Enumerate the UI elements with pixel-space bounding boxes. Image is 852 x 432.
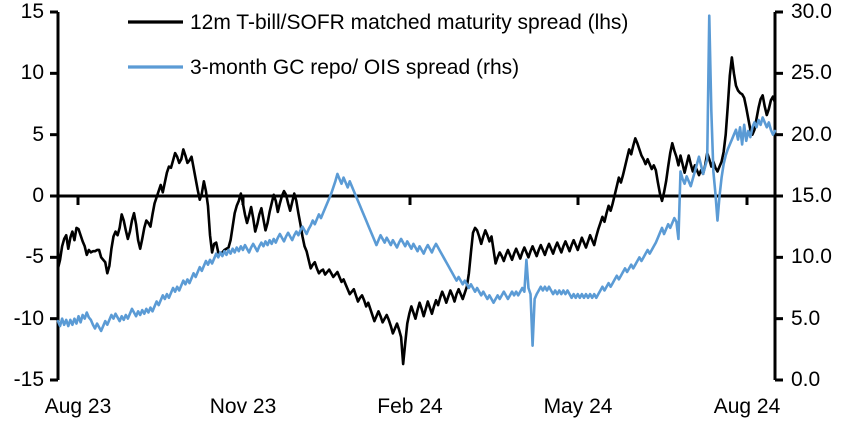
chart-container: 151050-5-10-15 30.025.020.015.010.05.00.… [0, 0, 852, 432]
x-axis-tick-label: Aug 23 [18, 396, 138, 417]
legend-label-gc-repo-ois-spread: 3-month GC repo/ OIS spread (rhs) [190, 57, 519, 78]
y-left-tick-label: -5 [0, 246, 44, 267]
y-left-tick-label: 15 [0, 1, 44, 22]
legend-swatch-layer [128, 22, 183, 67]
y-left-tick-label: -10 [0, 308, 44, 329]
y-right-tick-label: 10.0 [791, 246, 832, 267]
x-axis-tick-label: Nov 23 [183, 396, 303, 417]
y-left-tick-label: 0 [0, 185, 44, 206]
y-left-tick-label: 10 [0, 62, 44, 83]
y-right-tick-label: 5.0 [791, 308, 820, 329]
x-axis-tick-label: May 24 [518, 396, 638, 417]
y-left-tick-label: -15 [0, 369, 44, 390]
y-right-tick-label: 25.0 [791, 62, 832, 83]
y-right-tick-label: 20.0 [791, 124, 832, 145]
x-axis-tick-label: Aug 24 [687, 396, 807, 417]
x-axis-tick-label: Feb 24 [350, 396, 470, 417]
legend-label-tbill-sofr-spread: 12m T-bill/SOFR matched maturity spread … [190, 12, 628, 33]
y-right-tick-label: 30.0 [791, 1, 832, 22]
y-left-tick-label: 5 [0, 124, 44, 145]
y-right-tick-label: 15.0 [791, 185, 832, 206]
y-right-tick-label: 0.0 [791, 369, 820, 390]
